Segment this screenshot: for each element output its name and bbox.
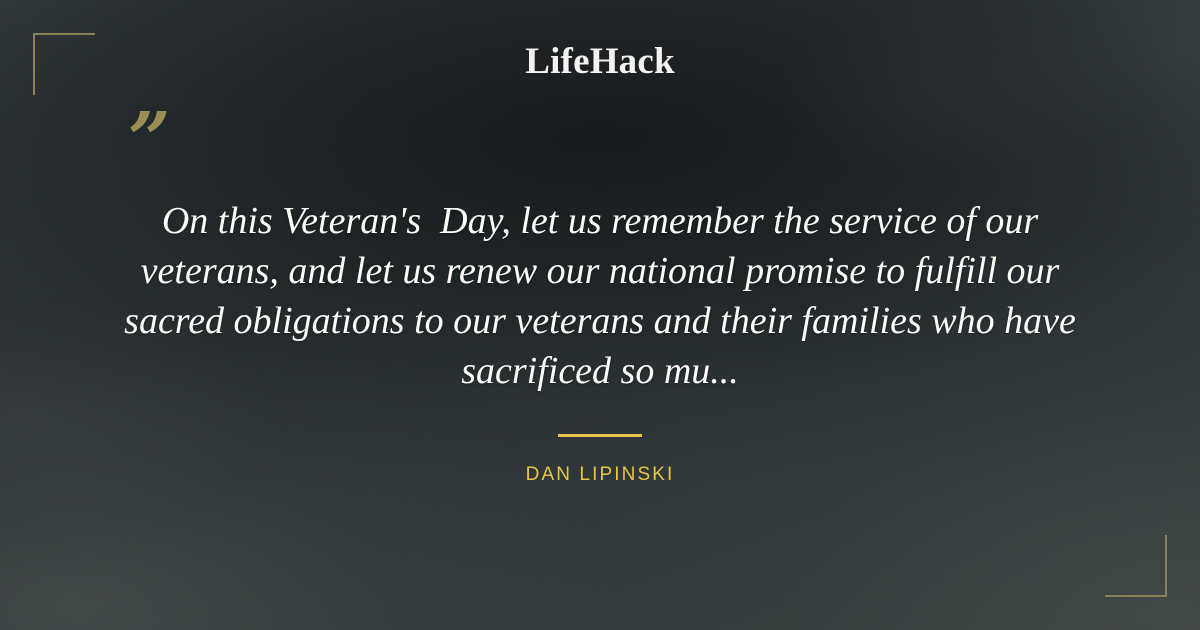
corner-bracket-bottom-right-icon bbox=[1105, 535, 1167, 597]
brand-logo: LifeHack bbox=[0, 40, 1200, 83]
quote-text: On this Veteran's Day, let us remember t… bbox=[100, 196, 1100, 396]
author-name: DAN LIPINSKI bbox=[526, 464, 675, 486]
quotation-mark-icon: ” bbox=[128, 103, 171, 177]
brand-logo-text: LifeHack bbox=[525, 40, 675, 83]
quote-block: On this Veteran's Day, let us remember t… bbox=[100, 196, 1100, 396]
attribution: DAN LIPINSKI bbox=[0, 464, 1200, 486]
author-divider bbox=[558, 434, 642, 437]
quote-card: LifeHack ” On this Veteran's Day, let us… bbox=[0, 0, 1200, 630]
